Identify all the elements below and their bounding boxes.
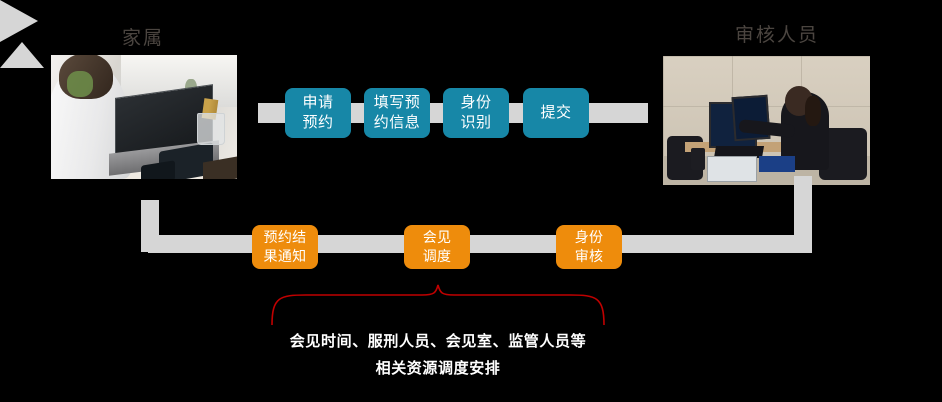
photo-family-member — [51, 55, 237, 179]
return-step-result-notice-line2: 果通知 — [264, 247, 307, 266]
flow-step-identity-line2: 识别 — [460, 113, 491, 133]
return-connector-left — [141, 200, 159, 252]
flow-step-apply-line1: 申请 — [302, 93, 333, 113]
flow-step-identity-line1: 身份 — [460, 93, 491, 113]
diagram-canvas: 家属 审核人员 申请 — [0, 0, 942, 402]
photo-pen-holder — [691, 148, 705, 170]
flow-step-apply[interactable]: 申请 预约 — [285, 88, 351, 138]
photo-pencil-cup — [197, 113, 225, 145]
return-step-identity-review[interactable]: 身份 审核 — [556, 225, 622, 269]
return-step-result-notice[interactable]: 预约结 果通知 — [252, 225, 318, 269]
flow-step-submit-line1: 提交 — [540, 103, 571, 123]
actor-label-reviewer: 审核人员 — [735, 20, 819, 47]
caption-line-1: 会见时间、服刑人员、会见室、监管人员等 — [0, 330, 909, 351]
top-flow-arrowhead-icon — [0, 0, 38, 42]
return-flow-bar — [148, 235, 812, 253]
flow-step-submit[interactable]: 提交 — [523, 88, 589, 138]
flow-step-fill-info[interactable]: 填写预 约信息 — [364, 88, 430, 138]
photo-green-accent — [67, 71, 93, 97]
actor-label-family: 家属 — [122, 23, 164, 50]
flow-step-fill-info-line1: 填写预 — [374, 93, 421, 113]
photo-reviewer-hair — [805, 96, 821, 126]
flow-step-apply-line2: 预约 — [302, 113, 333, 133]
photo-desk-phone — [707, 156, 757, 182]
photo-reviewer — [663, 56, 870, 185]
return-step-identity-review-line1: 身份 — [575, 228, 604, 247]
return-flow-arrowhead-icon — [0, 42, 44, 68]
return-step-meeting-schedule-line1: 会见 — [423, 228, 452, 247]
red-brace-icon — [262, 283, 622, 325]
photo-desk-box — [759, 156, 795, 172]
return-step-meeting-schedule-line2: 调度 — [423, 247, 452, 266]
flow-step-fill-info-line2: 约信息 — [374, 113, 421, 133]
caption-line-2: 相关资源调度安排 — [0, 357, 909, 378]
return-step-identity-review-line2: 审核 — [575, 247, 604, 266]
flow-step-identity[interactable]: 身份 识别 — [443, 88, 509, 138]
return-step-result-notice-line1: 预约结 — [264, 228, 307, 247]
return-step-meeting-schedule[interactable]: 会见 调度 — [404, 225, 470, 269]
